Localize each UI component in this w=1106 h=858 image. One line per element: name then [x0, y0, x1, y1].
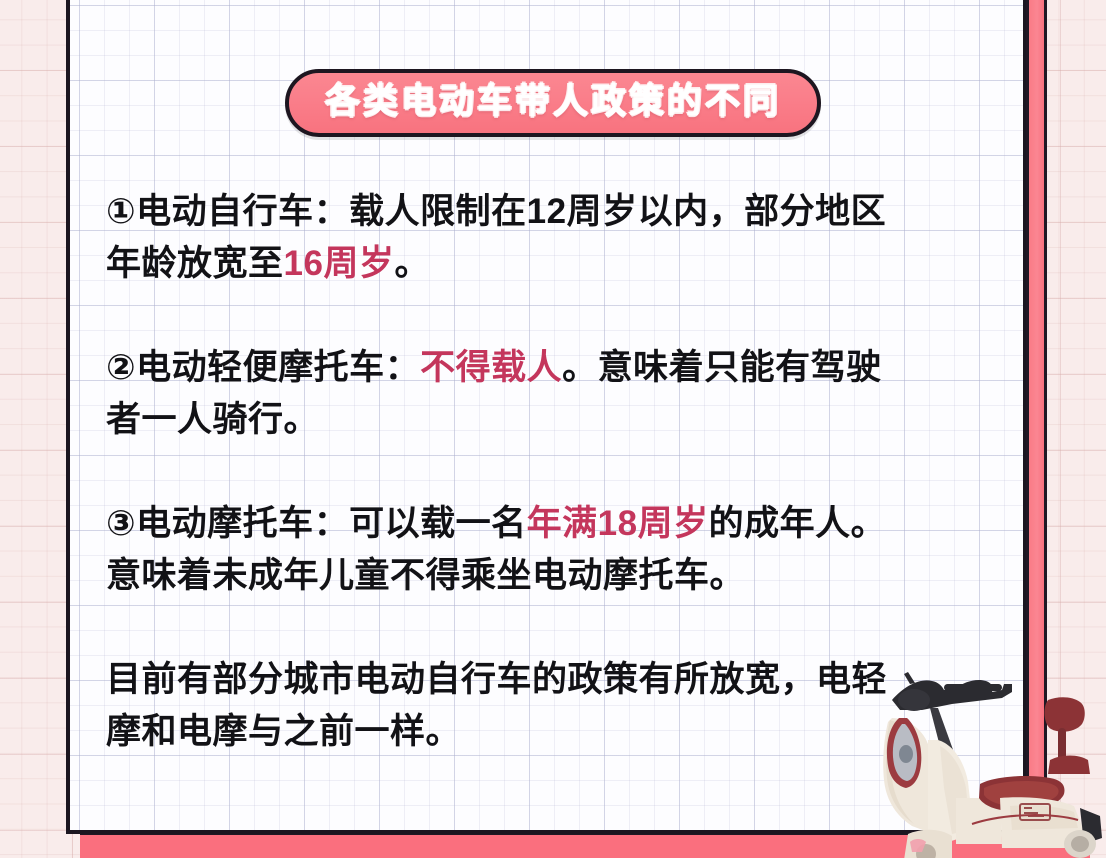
policy-item-1: ①电动自行车：载人限制在12周岁以内，部分地区年龄放宽至16周岁。 [106, 186, 916, 290]
policy-item-3: ③电动摩托车：可以载一名年满18周岁的成年人。意味着未成年儿童不得乘坐电动摩托车… [106, 498, 916, 602]
policy-item-1-seg-1: 16周岁 [284, 244, 395, 283]
policy-summary: 目前有部分城市电动自行车的政策有所放宽，电轻摩和电摩与之前一样。 [106, 654, 916, 758]
policy-item-2-seg-1: 不得载人 [420, 348, 562, 387]
policy-list: ①电动自行车：载人限制在12周岁以内，部分地区年龄放宽至16周岁。 ②电动轻便摩… [106, 186, 916, 758]
policy-summary-text: 目前有部分城市电动自行车的政策有所放宽，电轻摩和电摩与之前一样。 [106, 660, 887, 751]
title-pill: 各类电动车带人政策的不同 [285, 69, 821, 137]
policy-item-3-seg-1: 年满18周岁 [527, 504, 709, 543]
title-banner: 各类电动车带人政策的不同 [0, 69, 1106, 137]
policy-item-3-seg-0: ③电动摩托车：可以载一名 [106, 504, 527, 543]
policy-item-2: ②电动轻便摩托车：不得载人。意味着只能有驾驶者一人骑行。 [106, 342, 916, 446]
infographic-page: 各类电动车带人政策的不同 ①电动自行车：载人限制在12周岁以内，部分地区年龄放宽… [0, 0, 1106, 858]
policy-item-1-seg-0: ①电动自行车：载人限制在12周岁以内，部分地区年龄放宽至 [106, 192, 886, 283]
title-text: 各类电动车带人政策的不同 [325, 84, 781, 119]
bottom-accent-bar [80, 832, 1090, 858]
policy-item-1-seg-2: 。 [394, 244, 430, 283]
policy-item-2-seg-0: ②电动轻便摩托车： [106, 348, 420, 387]
